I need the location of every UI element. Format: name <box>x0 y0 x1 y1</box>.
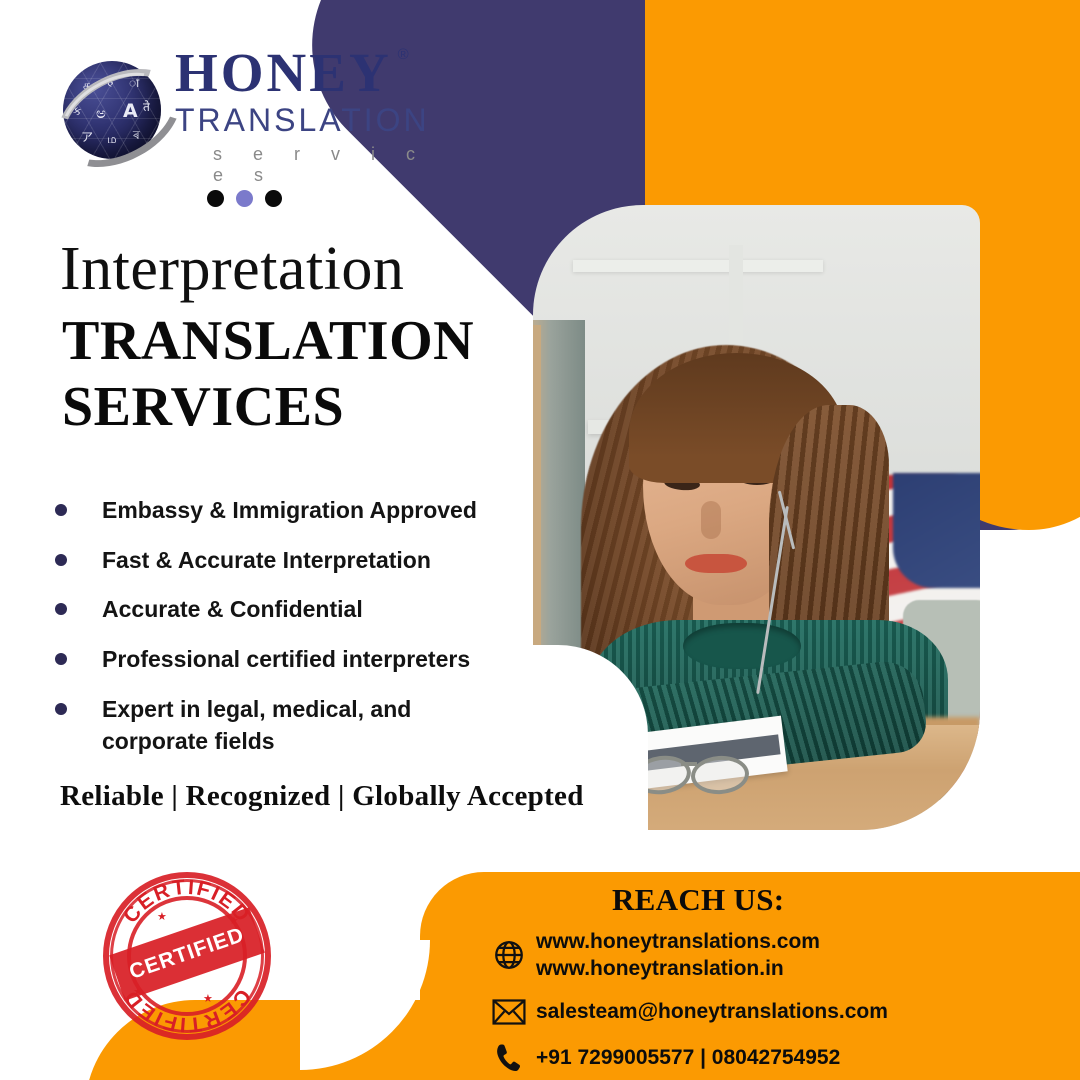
bullet-dot-icon <box>55 554 67 566</box>
feature-text: Fast & Accurate Interpretation <box>102 545 431 577</box>
photo-flag-union <box>893 473 980 588</box>
photo-nose <box>701 501 721 539</box>
bullet-dot-icon <box>55 703 67 715</box>
list-item: Accurate & Confidential <box>55 594 525 626</box>
list-item: Fast & Accurate Interpretation <box>55 545 525 577</box>
logo-subline: TRANSLATION <box>175 102 465 139</box>
certified-stamp: CERTIFIED CERTIFIED ★ ★ ★ ★ CERTIFIED <box>103 872 271 1040</box>
contact-row-website[interactable]: www.honeytranslations.com www.honeytrans… <box>492 928 1052 983</box>
list-item: Expert in legal, medical, and corporate … <box>55 694 525 757</box>
decorative-dots <box>207 190 282 207</box>
photo-door-frame <box>533 325 541 645</box>
contact-heading: REACH US: <box>612 882 784 918</box>
photo-eyeglasses <box>633 750 763 790</box>
dot-1 <box>207 190 224 207</box>
logo-name-text: HONEY <box>175 42 392 103</box>
contact-list: www.honeytranslations.com www.honeytrans… <box>492 928 1052 1080</box>
photo-lips <box>685 554 747 573</box>
email-text[interactable]: salesteam@honeytranslations.com <box>536 998 888 1025</box>
feature-text: Professional certified interpreters <box>102 644 470 676</box>
website-text: www.honeytranslations.com www.honeytrans… <box>536 928 820 983</box>
phone-icon <box>492 1041 536 1075</box>
logo-name: HONEY® <box>175 45 392 100</box>
photo-collar <box>683 623 801 669</box>
contact-row-email[interactable]: salesteam@honeytranslations.com <box>492 997 1052 1027</box>
headline-line-2: SERVICES <box>62 374 474 440</box>
registered-trademark-icon: ® <box>398 47 412 62</box>
contact-row-phone[interactable]: +91 7299005577 | 08042754952 <box>492 1041 1052 1075</box>
list-item: Embassy & Immigration Approved <box>55 495 525 527</box>
logo-services-line: s e r v i c e s <box>213 144 465 186</box>
dot-3 <box>265 190 282 207</box>
phone-text[interactable]: +91 7299005577 | 08042754952 <box>536 1044 840 1071</box>
headline-line-1: TRANSLATION <box>62 308 474 374</box>
bullet-dot-icon <box>55 653 67 665</box>
dot-2 <box>236 190 253 207</box>
stamp-star-icon: ★ <box>157 910 167 923</box>
bullet-dot-icon <box>55 504 67 516</box>
website-primary[interactable]: www.honeytranslations.com <box>536 928 820 955</box>
tagline: Reliable | Recognized | Globally Accepte… <box>60 780 584 813</box>
feature-text: Accurate & Confidential <box>102 594 363 626</box>
website-secondary[interactable]: www.honeytranslation.in <box>536 955 820 982</box>
feature-text: Expert in legal, medical, and corporate … <box>102 694 442 757</box>
feature-text: Embassy & Immigration Approved <box>102 495 477 527</box>
envelope-icon <box>492 997 536 1027</box>
globe-icon: க ह ा ક ಅ A ते ア ம ৰ <box>55 53 170 168</box>
list-item: Professional certified interpreters <box>55 644 525 676</box>
feature-list: Embassy & Immigration Approved Fast & Ac… <box>55 495 525 775</box>
headline-main: TRANSLATION SERVICES <box>62 308 474 440</box>
headline-script: Interpretation <box>60 234 404 305</box>
brand-logo: க ह ा ક ಅ A ते ア ம ৰ HONEY® TRANSLATION … <box>55 45 455 180</box>
stamp-star-icon: ★ <box>203 992 213 1005</box>
photo-shelf-top <box>573 260 823 272</box>
bullet-dot-icon <box>55 603 67 615</box>
poster-canvas: க ह ा ક ಅ A ते ア ம ৰ HONEY® TRANSLATION … <box>0 0 1080 1080</box>
globe-icon <box>492 938 536 972</box>
logo-wordmark: HONEY® TRANSLATION s e r v i c e s <box>175 45 465 186</box>
